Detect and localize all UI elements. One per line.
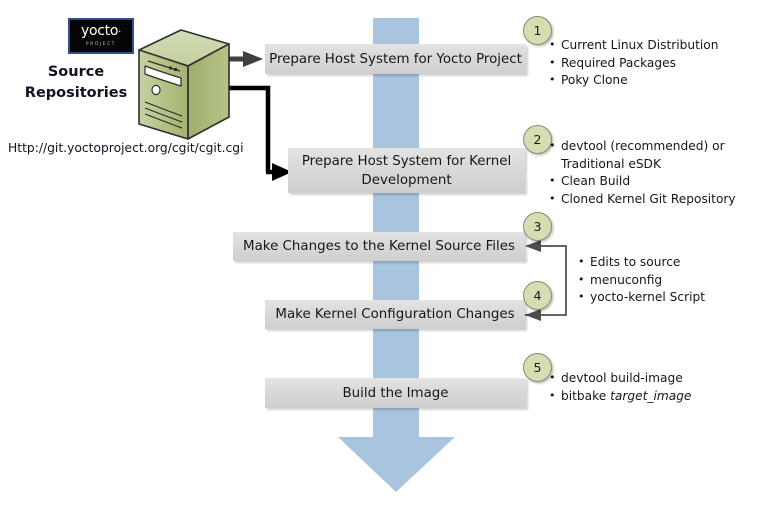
list-item: Edits to source <box>578 254 768 272</box>
yocto-project-logo: yocto· PROJECT <box>68 18 134 54</box>
diagram-canvas: yocto· PROJECT Source Repositories Http:… <box>0 0 769 517</box>
process-box-build-image[interactable]: Build the Image <box>265 378 526 408</box>
process-box-make-source-changes[interactable]: Make Changes to the Kernel Source Files <box>233 232 525 261</box>
step-number: 3 <box>534 219 542 234</box>
list-item: menuconfig <box>578 272 768 290</box>
step-1-bullet-list: Current Linux Distribution Required Pack… <box>549 37 764 90</box>
step-number-badge-2: 2 <box>523 125 552 154</box>
step-number-badge-1: 1 <box>523 16 552 45</box>
list-item: Current Linux Distribution <box>549 37 764 55</box>
list-item: Poky Clone <box>549 72 764 90</box>
server-tower-icon <box>136 28 232 141</box>
list-item: Cloned Kernel Git Repository <box>549 191 764 209</box>
process-box-label: Prepare Host System for Kernel Developme… <box>288 152 525 190</box>
list-item: Required Packages <box>549 55 764 73</box>
process-box-label: Build the Image <box>342 384 448 403</box>
logo-wordmark: yocto· <box>81 25 121 39</box>
list-item-emphasis: target_image <box>610 389 691 403</box>
list-item: Clean Build <box>549 173 764 191</box>
list-item: yocto-kernel Script <box>578 289 768 307</box>
process-box-label: Prepare Host System for Yocto Project <box>269 50 522 69</box>
step-5-bullet-list: devtool build-image bitbake target_image <box>549 370 764 405</box>
source-label-line2: Repositories <box>16 83 136 104</box>
connector-server-to-box2 <box>224 88 292 181</box>
process-box-prepare-host-kernel[interactable]: Prepare Host System for Kernel Developme… <box>288 148 525 193</box>
step-number-badge-5: 5 <box>523 353 552 382</box>
source-repository-url: Http://git.yoctoproject.org/cgit/cgit.cg… <box>8 141 244 155</box>
step-number: 1 <box>534 23 542 38</box>
logo-subtext: PROJECT <box>86 40 116 47</box>
process-box-make-config-changes[interactable]: Make Kernel Configuration Changes <box>265 300 525 329</box>
step-number: 4 <box>534 288 542 303</box>
process-box-label: Make Changes to the Kernel Source Files <box>243 237 515 256</box>
step-2-bullet-list: devtool (recommended) or Traditional eSD… <box>549 138 764 208</box>
list-item-prefix: bitbake <box>561 389 610 403</box>
process-box-label: Make Kernel Configuration Changes <box>275 305 514 324</box>
list-item: bitbake target_image <box>549 388 764 406</box>
step-number-badge-4: 4 <box>523 281 552 310</box>
step-3-bullet-list: Edits to source menuconfig yocto-kernel … <box>578 254 768 307</box>
step-number: 2 <box>534 132 542 147</box>
source-repositories-label: Source Repositories <box>16 62 136 104</box>
step-number-badge-3: 3 <box>523 212 552 241</box>
list-item: devtool (recommended) or Traditional eSD… <box>549 138 764 173</box>
logo-dot: · <box>118 27 121 38</box>
step-number: 5 <box>534 360 542 375</box>
process-box-prepare-host-yocto[interactable]: Prepare Host System for Yocto Project <box>265 44 526 74</box>
source-label-line1: Source <box>16 62 136 83</box>
list-item: devtool build-image <box>549 370 764 388</box>
logo-wordmark-text: yocto <box>81 23 118 39</box>
